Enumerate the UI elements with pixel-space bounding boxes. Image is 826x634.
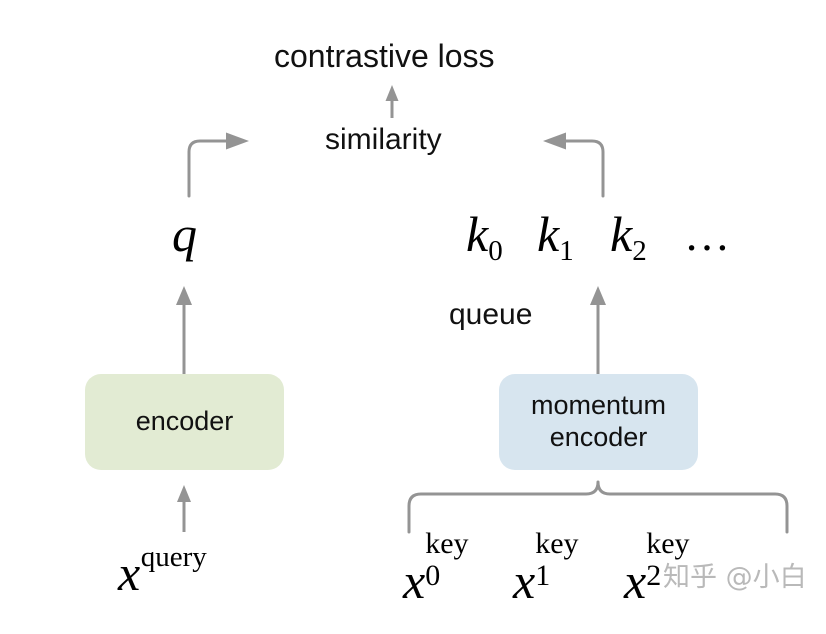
x-query-symbol: xquery (118, 548, 206, 598)
keys-ellipsis: … (684, 212, 730, 258)
key-symbol-k2: k2 (610, 209, 647, 259)
encoder-box-label: encoder (136, 406, 234, 438)
x-key-indices-1: key 1 (535, 548, 570, 598)
x-key-base-2: x (624, 553, 646, 609)
x-query-superscript: query (141, 541, 207, 573)
key-samples-brace (409, 482, 787, 532)
arrow-encoder-to-q (176, 286, 192, 374)
moco-architecture-diagram: contrastive loss similarity queue q k0 k… (0, 0, 826, 634)
x-key-superscript-0: key (425, 529, 468, 559)
x-key-symbol-1: x key 1 (513, 548, 570, 606)
x-key-base-0: x (403, 553, 425, 609)
x-key-subscript-1: 1 (535, 561, 550, 591)
key-subscript-k1: 1 (559, 235, 574, 267)
x-key-superscript-1: key (535, 529, 578, 559)
encoder-box[interactable]: encoder (85, 374, 284, 470)
x-key-indices-0: key 0 (425, 548, 460, 598)
arrow-xquery-to-encoder (177, 485, 191, 532)
contrastive-loss-label: contrastive loss (274, 40, 495, 72)
arrow-keys-to-similarity (543, 133, 603, 197)
arrow-q-to-similarity (189, 133, 249, 197)
key-base-k2: k (610, 206, 632, 262)
key-symbol-k0: k0 (466, 209, 503, 259)
similarity-label: similarity (325, 125, 442, 155)
key-subscript-k2: 2 (632, 235, 647, 267)
momentum-encoder-box-label-line2: encoder (550, 422, 648, 454)
x-query-base: x (118, 545, 140, 601)
x-key-base-1: x (513, 553, 535, 609)
key-base-k1: k (537, 206, 559, 262)
x-key-symbol-0: x key 0 (403, 548, 460, 606)
x-key-subscript-2: 2 (646, 561, 661, 591)
momentum-encoder-box[interactable]: momentum encoder (499, 374, 698, 470)
arrow-similarity-to-loss (386, 85, 399, 118)
key-subscript-k0: 0 (488, 235, 503, 267)
zhihu-watermark: 知乎 @小白 (663, 564, 807, 591)
x-key-superscript-2: key (646, 529, 689, 559)
queue-label: queue (449, 300, 532, 330)
key-base-k0: k (466, 206, 488, 262)
connector-layer (0, 0, 826, 634)
arrow-momentum-encoder-to-keys (590, 286, 606, 374)
q-symbol: q (172, 209, 197, 259)
momentum-encoder-box-label-line1: momentum (531, 390, 666, 422)
x-key-subscript-0: 0 (425, 561, 440, 591)
key-symbol-k1: k1 (537, 209, 574, 259)
